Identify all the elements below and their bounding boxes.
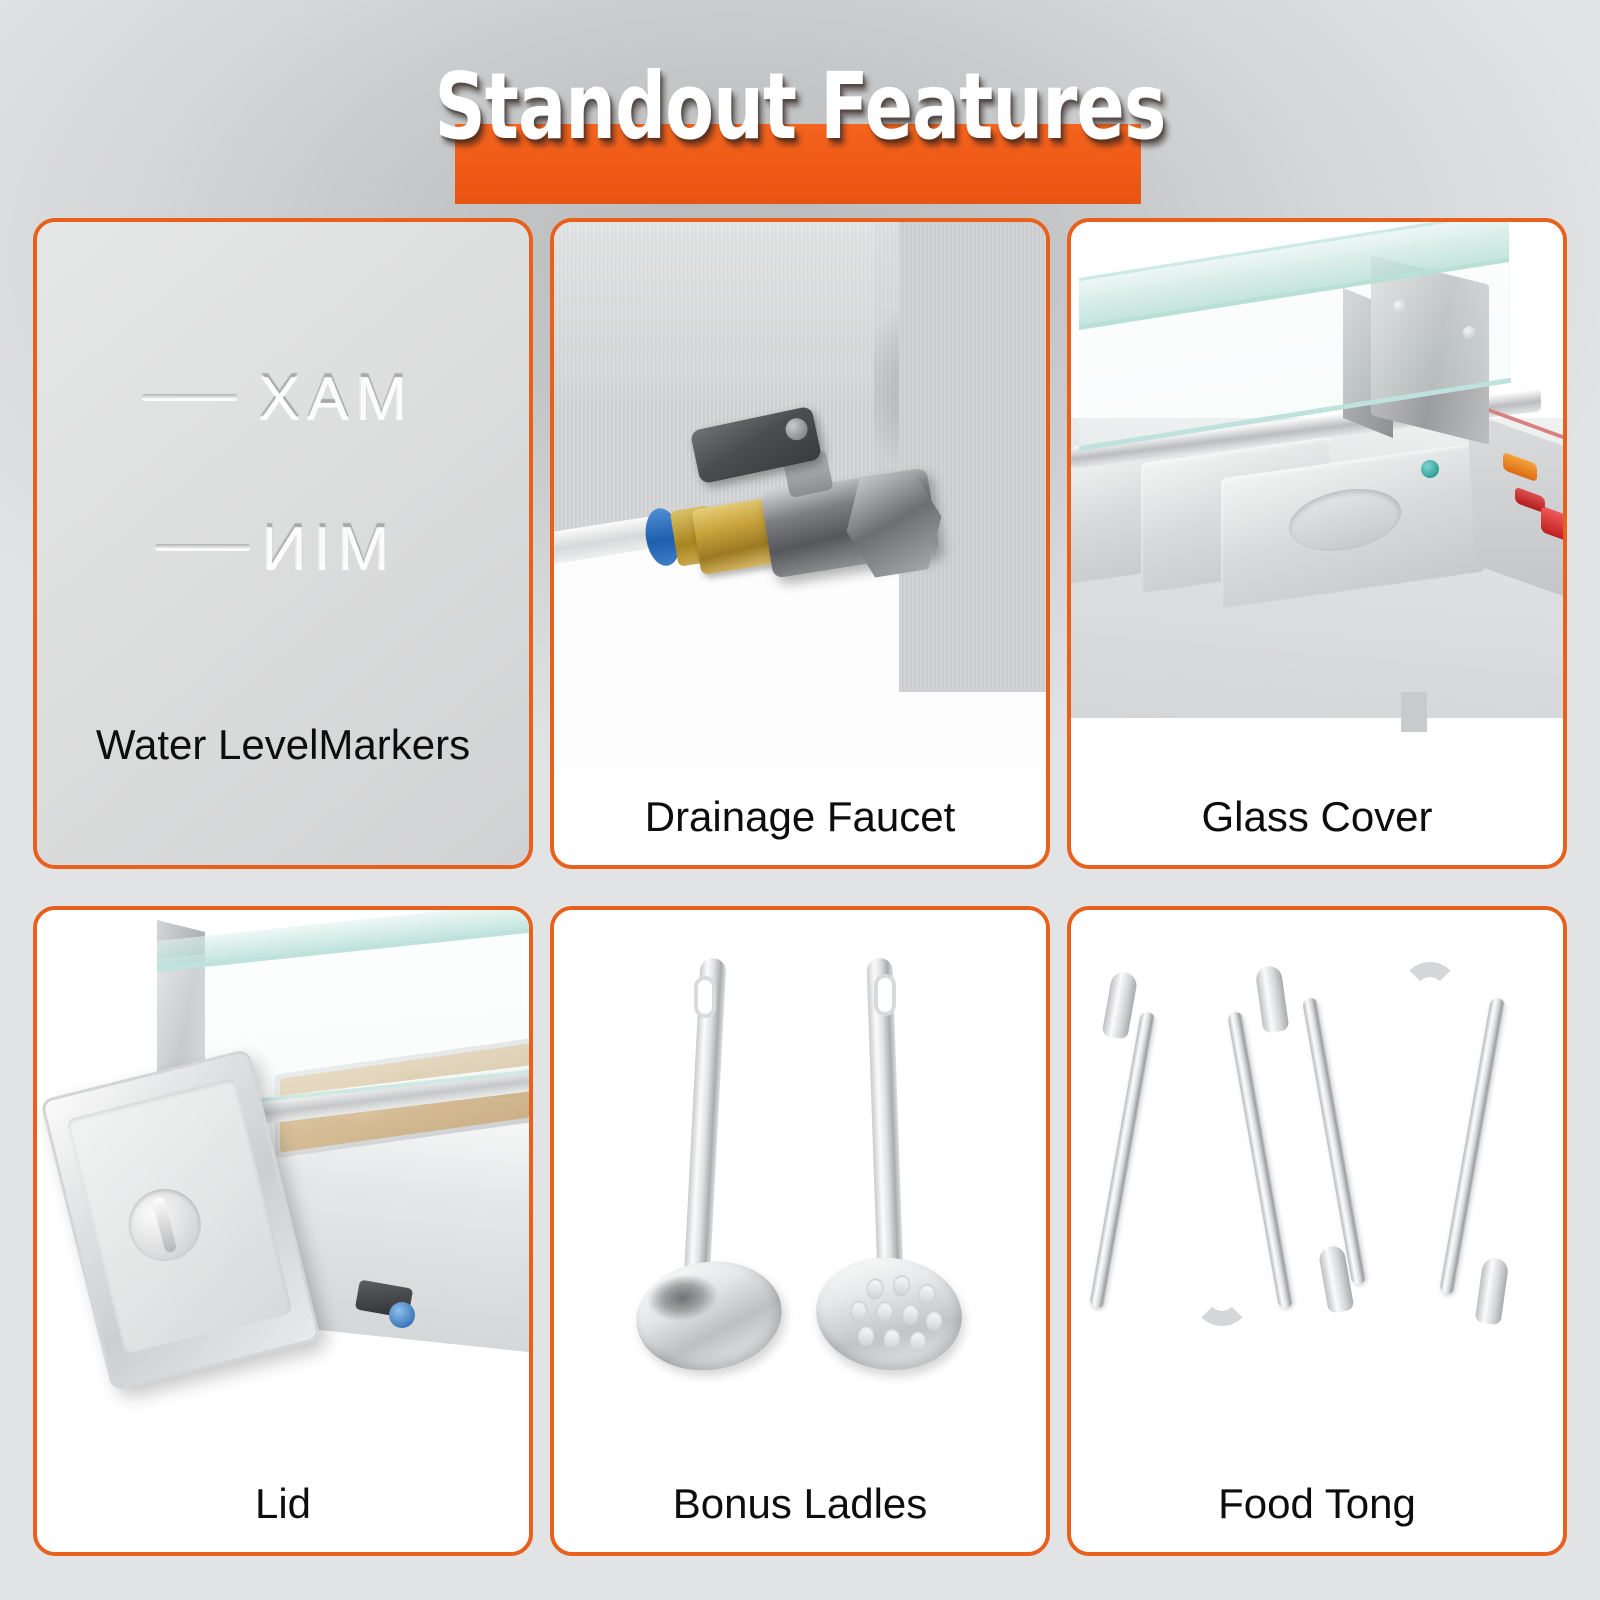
- feature-grid: MAX MIN Water Level Markers: [33, 218, 1567, 1556]
- min-embossed-label: MIN: [255, 512, 390, 583]
- max-dash-mark: [142, 394, 237, 399]
- tong-left-tip-b: [1255, 964, 1290, 1033]
- feature-showcase-page: Standout Features MAX MIN Water Level Ma…: [0, 0, 1600, 1600]
- tong-left-arm-a: [1089, 1010, 1156, 1308]
- caption-food-tong: Food Tong: [1071, 1456, 1563, 1552]
- drainage-faucet-photo: [554, 222, 1046, 769]
- caption-line-2: Markers: [318, 721, 470, 769]
- tong-right-bend: [1401, 962, 1459, 1006]
- tong-right-tip-b: [1475, 1256, 1510, 1325]
- warmer-leg: [1401, 692, 1427, 732]
- ladle-slotted-hang-hole: [874, 974, 896, 1016]
- drain-valve-blue-fitting: [389, 1302, 415, 1328]
- bonus-ladles-photo: [554, 910, 1046, 1457]
- max-embossed-label: MAX: [252, 362, 407, 433]
- control-label-1: [1490, 440, 1493, 449]
- min-dash-mark: [155, 544, 250, 549]
- caption-glass-cover: Glass Cover: [1071, 769, 1563, 865]
- caption-bonus-ladles: Bonus Ladles: [554, 1456, 1046, 1552]
- feature-card-lid[interactable]: Lid: [33, 906, 533, 1557]
- caption-line-1: Water Level: [96, 721, 319, 769]
- feature-card-food-tong[interactable]: Food Tong: [1067, 906, 1567, 1557]
- caption-lid: Lid: [37, 1456, 529, 1552]
- feature-card-drainage-faucet[interactable]: Drainage Faucet: [550, 218, 1050, 869]
- feature-card-water-level-markers[interactable]: MAX MIN Water Level Markers: [33, 218, 533, 869]
- feature-card-glass-cover[interactable]: Glass Cover: [1067, 218, 1567, 869]
- tong-left-arm-b: [1227, 1010, 1294, 1308]
- caption-water-level-markers: Water Level Markers: [37, 721, 529, 841]
- steel-panel-side: [899, 222, 1046, 692]
- page-title-block: Standout Features: [0, 48, 1600, 168]
- ladle-solid-bowl: [629, 1252, 789, 1379]
- ladle-slotted-bowl: [811, 1250, 968, 1377]
- indicator-light-teal: [1421, 460, 1439, 478]
- tong-left-tip-a: [1101, 970, 1138, 1040]
- tong-right-arm-a: [1302, 996, 1367, 1284]
- food-tong-photo: [1071, 910, 1563, 1457]
- caption-drainage-faucet: Drainage Faucet: [554, 769, 1046, 865]
- lid-handle-knob: [121, 1181, 208, 1268]
- page-title: Standout Features: [112, 48, 1488, 166]
- ladle-solid-hang-hole: [694, 976, 716, 1018]
- tong-left-bend: [1193, 1282, 1251, 1326]
- glass-cover-photo: [1071, 222, 1563, 769]
- tong-right-arm-b: [1439, 996, 1506, 1294]
- feature-card-bonus-ladles[interactable]: Bonus Ladles: [550, 906, 1050, 1557]
- lid-photo: [37, 910, 529, 1457]
